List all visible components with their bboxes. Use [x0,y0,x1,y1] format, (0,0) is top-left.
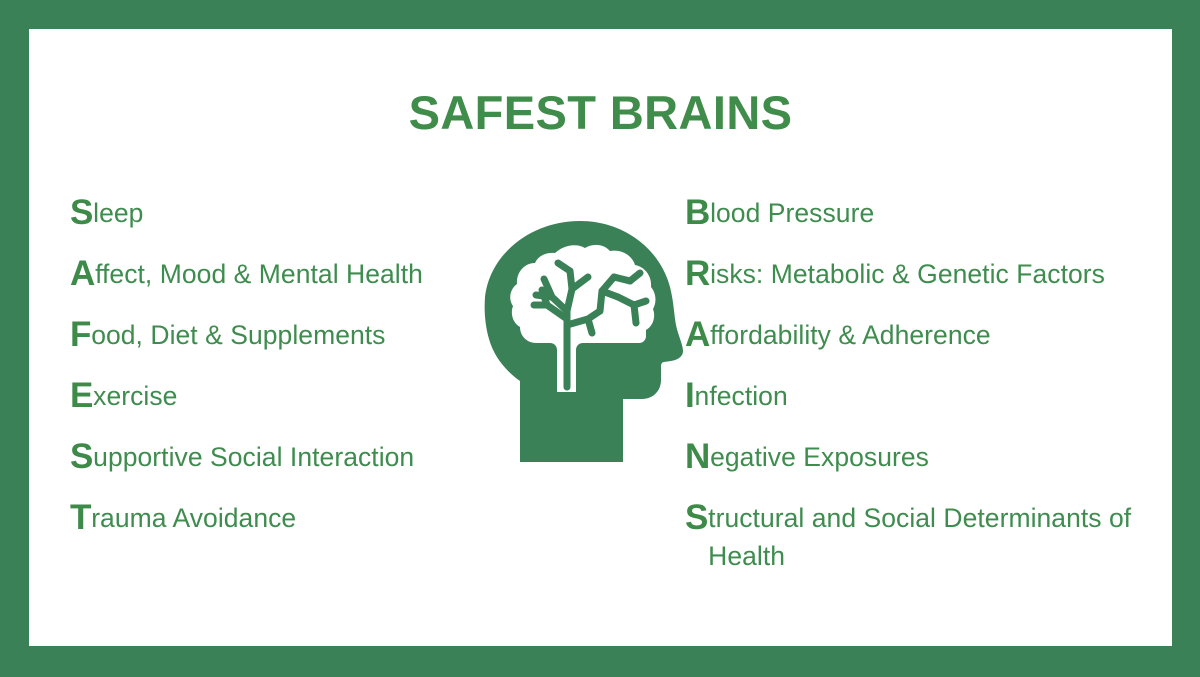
list-item: T rauma Avoidance [70,499,490,560]
list-item: A ffordability & Adherence [685,316,1175,377]
list-item-label: ffordability & Adherence [710,316,991,354]
acronym-initial: B [685,194,710,232]
acronym-initial: R [685,255,710,293]
acronym-initial: A [685,316,710,354]
list-item: I nfection [685,377,1175,438]
list-item-label: xercise [93,377,177,415]
list-item-label: ood, Diet & Supplements [91,316,385,354]
list-item: N egative Exposures [685,438,1175,499]
list-item-label: ffect, Mood & Mental Health [95,255,423,293]
list-item: E xercise [70,377,490,438]
acronym-initial: I [685,377,695,415]
head-with-brain-icon [484,219,684,464]
acronym-initial: S [70,194,93,232]
acronym-initial: S [70,438,93,476]
list-item-label: rauma Avoidance [91,499,296,537]
acronym-initial: N [685,438,710,476]
list-item-label: leep [93,194,143,232]
safest-column: S leep A ffect, Mood & Mental Health F o… [70,194,490,560]
acronym-initial: E [70,377,93,415]
list-item: B lood Pressure [685,194,1175,255]
list-item-label: nfection [695,377,788,415]
list-item: F ood, Diet & Supplements [70,316,490,377]
list-item: A ffect, Mood & Mental Health [70,255,490,316]
list-item: S upportive Social Interaction [70,438,490,499]
list-item-label: tructural and Social Determinants of Hea… [708,499,1175,575]
list-item: S leep [70,194,490,255]
acronym-initial: T [70,499,91,537]
list-item-label: egative Exposures [710,438,929,476]
acronym-initial: A [70,255,95,293]
list-item-label: isks: Metabolic & Genetic Factors [710,255,1105,293]
page-title: SAFEST BRAINS [29,85,1172,140]
acronym-initial: S [685,499,708,537]
list-item: S tructural and Social Determinants of H… [685,499,1175,575]
poster-card: SAFEST BRAINS S leep A ffect, Mood & Men… [29,29,1172,646]
list-item-label: lood Pressure [710,194,874,232]
list-item-label: upportive Social Interaction [93,438,414,476]
poster-frame: SAFEST BRAINS S leep A ffect, Mood & Men… [0,0,1200,677]
list-item: R isks: Metabolic & Genetic Factors [685,255,1175,316]
brains-column: B lood Pressure R isks: Metabolic & Gene… [685,194,1175,575]
acronym-initial: F [70,316,91,354]
